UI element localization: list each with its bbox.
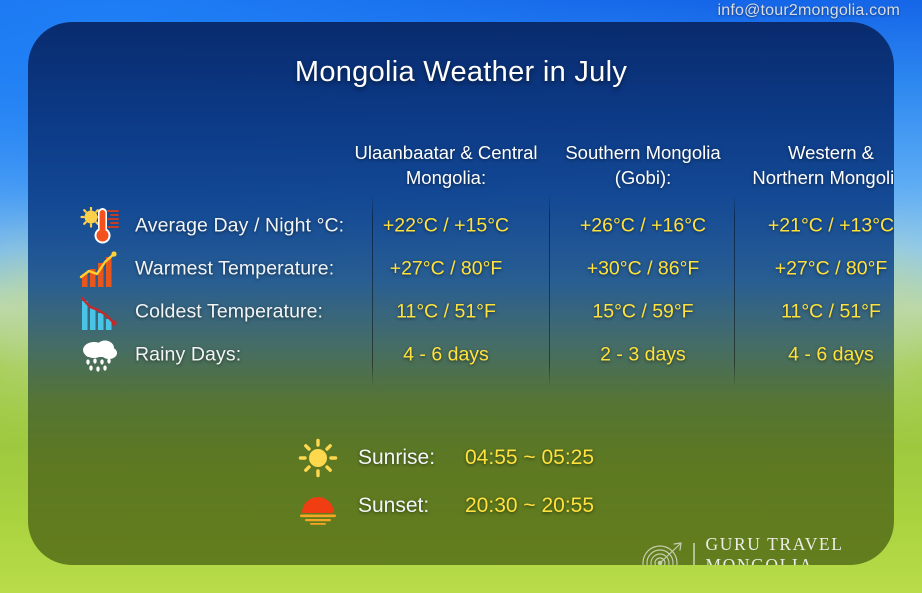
contact-email[interactable]: info@tour2mongolia.com bbox=[717, 2, 900, 20]
row-label-rainy-days: Rainy Days: bbox=[135, 343, 241, 366]
cell-rainy-southern: 2 - 3 days bbox=[552, 343, 734, 366]
sunrise-value: 04:55 ~ 05:25 bbox=[465, 446, 594, 470]
row-label-warmest-temp: Warmest Temperature: bbox=[135, 257, 334, 280]
cell-rainy-western: 4 - 6 days bbox=[742, 343, 894, 366]
bar-chart-down-icon bbox=[78, 293, 122, 331]
table-header-row: Ulaanbaatar & Central Mongolia: Southern… bbox=[28, 140, 894, 198]
weather-card: Mongolia Weather in July Ulaanbaatar & C… bbox=[28, 22, 894, 565]
cell-average-ulaanbaatar: +22°C / +15°C bbox=[353, 214, 539, 237]
cell-average-western: +21°C / +13°C bbox=[742, 214, 894, 237]
table-row: Rainy Days: 4 - 6 days 2 - 3 days 4 - 6 … bbox=[28, 333, 894, 376]
cell-warmest-western: +27°C / 80°F bbox=[742, 257, 894, 280]
table-body: Average Day / Night °C: +22°C / +15°C +2… bbox=[28, 204, 894, 376]
cell-warmest-southern: +30°C / 86°F bbox=[552, 257, 734, 280]
sunset-icon bbox=[293, 485, 343, 527]
cell-coldest-ulaanbaatar: 11°C / 51°F bbox=[353, 300, 539, 323]
logo-text-block: GURU TRAVEL MONGOLIA ONE AIM, EXCELLENCE bbox=[706, 534, 895, 565]
cell-warmest-ulaanbaatar: +27°C / 80°F bbox=[353, 257, 539, 280]
column-divider-1 bbox=[372, 194, 373, 387]
column-divider-2 bbox=[549, 194, 550, 387]
column-header-ulaanbaatar: Ulaanbaatar & Central Mongolia: bbox=[353, 140, 539, 190]
row-label-coldest-temp: Coldest Temperature: bbox=[135, 300, 323, 323]
cell-average-southern: +26°C / +16°C bbox=[552, 214, 734, 237]
column-divider-3 bbox=[734, 194, 735, 387]
thermometer-sun-icon bbox=[78, 207, 122, 245]
column-header-southern: Southern Mongolia (Gobi): bbox=[552, 140, 734, 190]
table-row: Coldest Temperature: 11°C / 51°F 15°C / … bbox=[28, 290, 894, 333]
sun-times-section: Sunrise: 04:55 ~ 05:25 Sunset: 20:30 ~ 2… bbox=[28, 434, 894, 530]
sunrise-label: Sunrise: bbox=[358, 446, 435, 470]
sunset-row: Sunset: 20:30 ~ 20:55 bbox=[28, 482, 894, 530]
cell-rainy-ulaanbaatar: 4 - 6 days bbox=[353, 343, 539, 366]
cell-coldest-western: 11°C / 51°F bbox=[742, 300, 894, 323]
sunrise-row: Sunrise: 04:55 ~ 05:25 bbox=[28, 434, 894, 482]
column-header-western: Western & Northern Mongolia: bbox=[742, 140, 894, 190]
page-title: Mongolia Weather in July bbox=[28, 56, 894, 89]
target-arrow-icon bbox=[640, 539, 686, 565]
logo-divider bbox=[693, 543, 695, 565]
sun-icon bbox=[293, 437, 343, 479]
row-label-average-temp: Average Day / Night °C: bbox=[135, 214, 344, 237]
sunset-value: 20:30 ~ 20:55 bbox=[465, 494, 594, 518]
table-row: Average Day / Night °C: +22°C / +15°C +2… bbox=[28, 204, 894, 247]
logo-brand-name: GURU TRAVEL MONGOLIA bbox=[706, 534, 895, 565]
rain-cloud-icon bbox=[78, 336, 122, 374]
sunset-label: Sunset: bbox=[358, 494, 429, 518]
cell-coldest-southern: 15°C / 59°F bbox=[552, 300, 734, 323]
brand-logo[interactable]: GURU TRAVEL MONGOLIA ONE AIM, EXCELLENCE bbox=[640, 534, 894, 565]
table-row: Warmest Temperature: +27°C / 80°F +30°C … bbox=[28, 247, 894, 290]
weather-table: Ulaanbaatar & Central Mongolia: Southern… bbox=[28, 140, 894, 376]
bar-chart-up-icon bbox=[78, 250, 122, 288]
